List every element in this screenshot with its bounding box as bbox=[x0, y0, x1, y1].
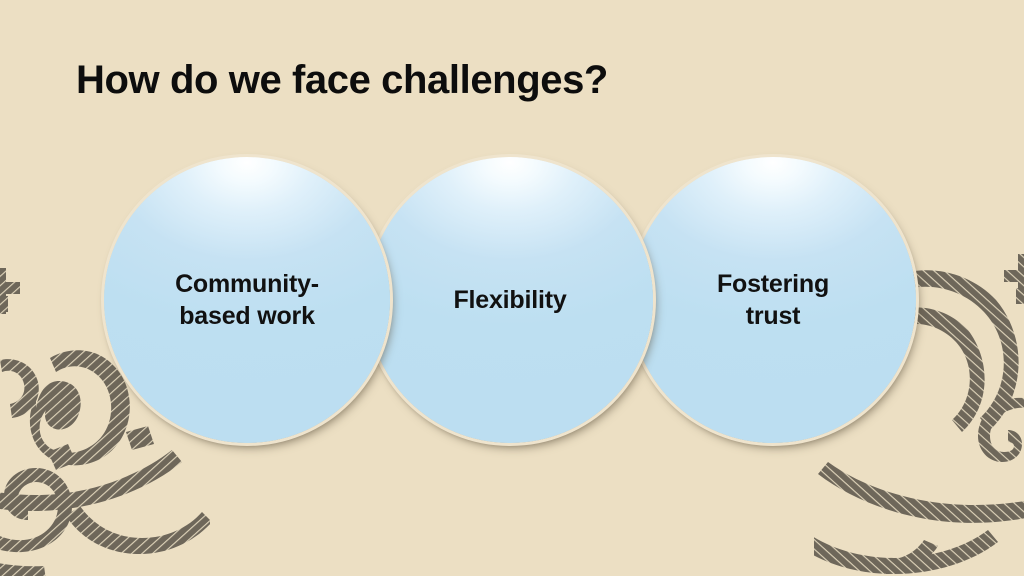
circle-label-fostering-trust: Fostering trust bbox=[658, 268, 888, 332]
circle-label-line: Community- bbox=[132, 268, 362, 300]
circle-flexibility[interactable]: Flexibility bbox=[367, 157, 653, 443]
circle-label-line: trust bbox=[658, 300, 888, 332]
circle-fostering-trust[interactable]: Fostering trust bbox=[630, 157, 916, 443]
circle-label-flexibility: Flexibility bbox=[395, 284, 625, 316]
circle-label-line: based work bbox=[132, 300, 362, 332]
circle-label-community-based-work: Community- based work bbox=[132, 268, 362, 332]
circle-label-line: Flexibility bbox=[395, 284, 625, 316]
circle-label-line: Fostering bbox=[658, 268, 888, 300]
presentation-slide: How do we face challenges? Community- ba… bbox=[0, 0, 1024, 576]
page-title: How do we face challenges? bbox=[76, 58, 608, 103]
circle-community-based-work[interactable]: Community- based work bbox=[104, 157, 390, 443]
